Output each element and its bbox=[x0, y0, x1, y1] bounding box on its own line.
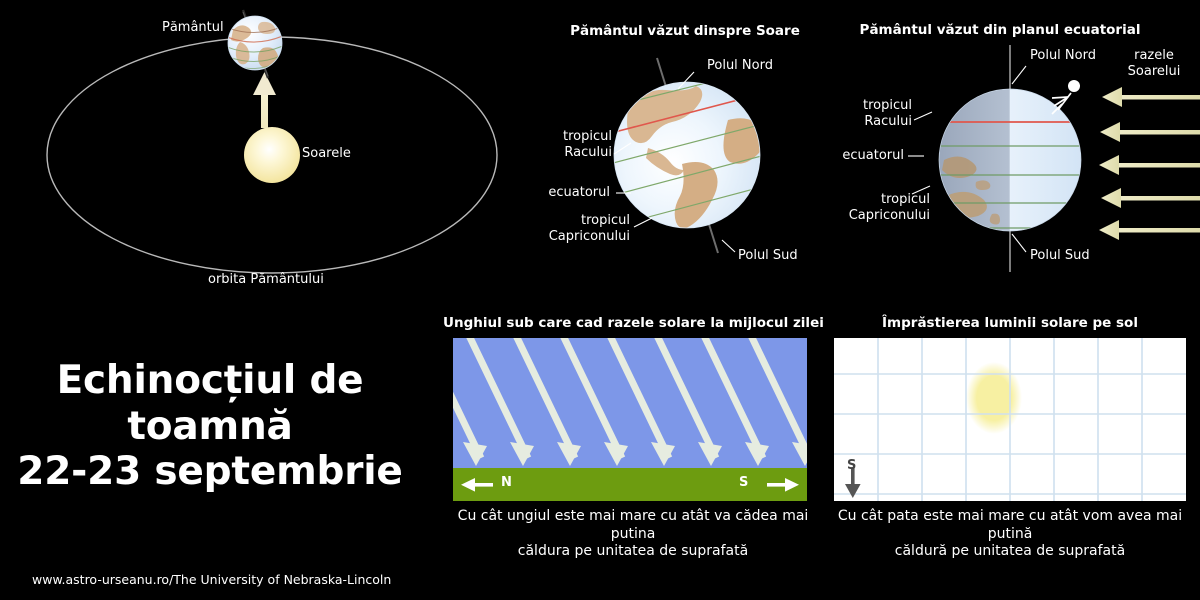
north-label: N bbox=[501, 475, 512, 490]
observer-stick-figure bbox=[1052, 80, 1080, 114]
caption-line-2: căldura pe unitatea de suprafată bbox=[518, 543, 748, 559]
orbit-label: orbita Pământului bbox=[208, 272, 324, 288]
label-tropic-cancer: tropicul Racului bbox=[840, 98, 912, 130]
label-equator: ecuatorul bbox=[840, 148, 904, 164]
sun-rays-line1: razele bbox=[1134, 48, 1174, 63]
globe-equatorial-title: Pământul văzut din planul ecuatorial bbox=[840, 22, 1160, 38]
globe-from-sun-title: Pământul văzut dinspre Soare bbox=[530, 23, 840, 39]
leader-tropic-capricorn bbox=[634, 218, 652, 227]
sun-ray-arrow bbox=[1101, 188, 1200, 208]
globe-equatorial-panel: Pământul văzut din planul ecuatorial bbox=[840, 0, 1200, 300]
sun-rays-line2: Soarelui bbox=[1128, 64, 1181, 79]
label-south-pole: Polul Sud bbox=[738, 248, 798, 264]
label-tropic-cancer: tropicul Racului bbox=[530, 129, 612, 161]
headline-line-1: Echinocțiul de bbox=[10, 358, 410, 404]
sun-label: Soarele bbox=[302, 146, 351, 162]
sun-rays-group bbox=[1099, 87, 1200, 240]
sun-ray-arrow bbox=[1099, 155, 1200, 175]
light-spot-caption: Cu cât pata este mai mare cu atât vom av… bbox=[815, 508, 1200, 561]
source-footer: www.astro-urseanu.ro/The University of N… bbox=[32, 572, 391, 587]
mini-earth-globe bbox=[227, 16, 285, 70]
leader-south-pole bbox=[1012, 234, 1026, 252]
sunlight-spot bbox=[966, 362, 1022, 434]
sun-ray-arrow bbox=[1099, 220, 1200, 240]
tropic-capricorn-line1: tropicul bbox=[881, 192, 930, 207]
orbital-diagram-svg bbox=[0, 0, 520, 300]
light-spot-figure bbox=[834, 338, 1186, 501]
leader-tropic-cancer bbox=[914, 112, 932, 120]
headline-line-3: 22-23 septembrie bbox=[10, 449, 410, 495]
headline-line-2: toamnă bbox=[10, 404, 410, 450]
label-tropic-capricorn: tropicul Capriconului bbox=[530, 213, 630, 245]
tropic-capricorn-line2: Capriconului bbox=[549, 229, 630, 244]
caption-line-1: Cu cât ungiul este mai mare cu atât va c… bbox=[458, 508, 809, 542]
label-north-pole: Polul Nord bbox=[1030, 48, 1096, 64]
label-sun-rays: razele Soarelui bbox=[1108, 48, 1200, 80]
caption-line-1: Cu cât pata este mai mare cu atât vom av… bbox=[838, 508, 1182, 542]
south-label: S bbox=[739, 475, 748, 490]
sun-ray-arrow bbox=[1102, 87, 1200, 107]
globe-from-sun-panel: Pământul văzut dinspre Soare bbox=[530, 0, 840, 300]
label-south-pole: Polul Sud bbox=[1030, 248, 1090, 264]
sun-body bbox=[244, 127, 300, 183]
sun-ray-arrow bbox=[1100, 122, 1200, 142]
light-spot-title: Împrăstierea luminii solare pe sol bbox=[820, 315, 1200, 331]
label-equator: ecuatorul bbox=[530, 185, 610, 201]
south-label: S bbox=[847, 458, 856, 473]
tropic-cancer-line2: Racului bbox=[864, 114, 912, 129]
tropic-capricorn-line1: tropicul bbox=[581, 213, 630, 228]
sun-angle-title: Unghiul sub care cad razele solare la mi… bbox=[443, 315, 823, 331]
leader-south-pole bbox=[722, 240, 735, 252]
tropic-capricorn-line2: Capriconului bbox=[849, 208, 930, 223]
label-tropic-capricorn: tropicul Capriconului bbox=[840, 192, 930, 224]
tropic-cancer-line1: tropicul bbox=[563, 129, 612, 144]
sun-angle-caption: Cu cât ungiul este mai mare cu atât va c… bbox=[438, 508, 828, 561]
sun-angle-panel: Unghiul sub care cad razele solare la mi… bbox=[443, 310, 823, 550]
earth-label: Pământul bbox=[162, 20, 224, 36]
tropic-cancer-line1: tropicul bbox=[863, 98, 912, 113]
caption-line-2: căldură pe unitatea de suprafată bbox=[895, 543, 1125, 559]
orbital-diagram-panel: Pământul Soarele orbita Pământului bbox=[0, 0, 520, 300]
light-spot-panel: Împrăstierea luminii solare pe sol bbox=[820, 310, 1200, 550]
sunlight-arrow bbox=[253, 72, 276, 128]
tropic-cancer-line2: Racului bbox=[564, 145, 612, 160]
headline-block: Echinocțiul de toamnă 22-23 septembrie bbox=[10, 358, 410, 495]
leader-north-pole bbox=[1012, 66, 1026, 84]
label-north-pole: Polul Nord bbox=[707, 58, 773, 74]
